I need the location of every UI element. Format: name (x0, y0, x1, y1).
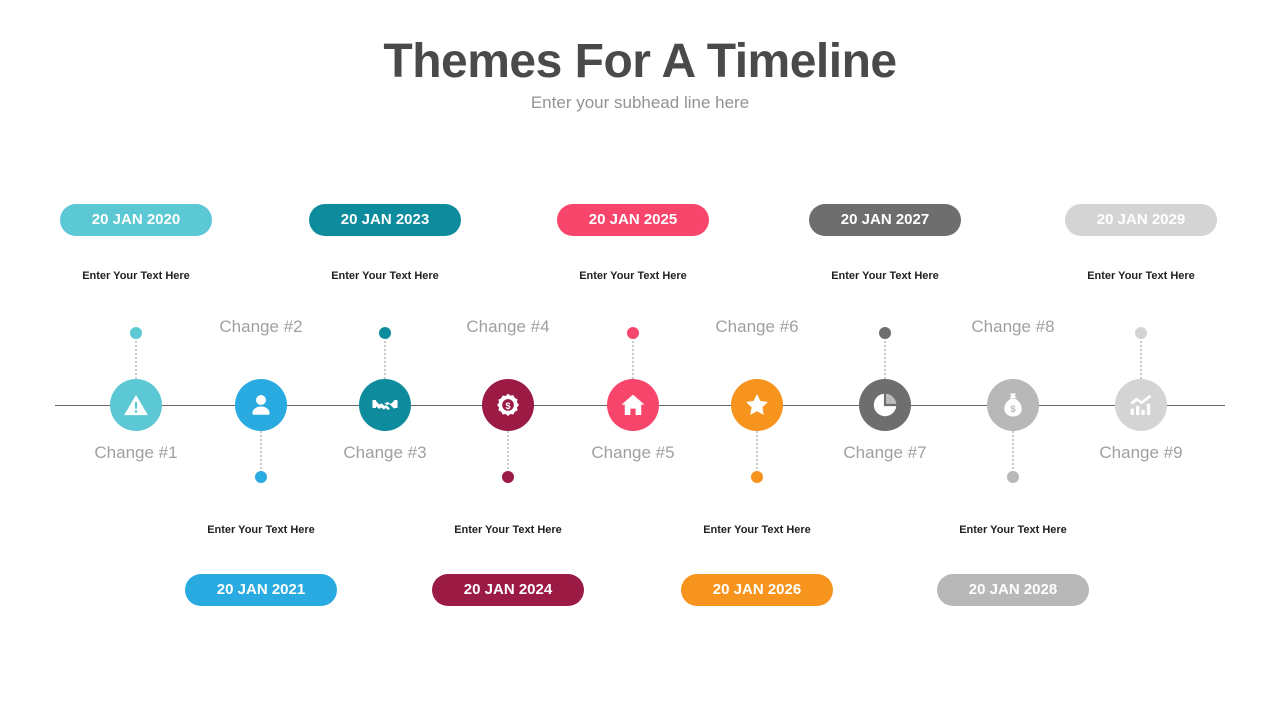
handshake-icon (372, 392, 398, 418)
dotted-line (1140, 333, 1144, 379)
node-circle-6[interactable] (731, 379, 783, 431)
node-circle-3[interactable] (359, 379, 411, 431)
connector-dot (255, 471, 267, 483)
node-circle-2[interactable] (235, 379, 287, 431)
connector-dot (1135, 327, 1147, 339)
milestone-text: Enter Your Text Here (398, 524, 618, 536)
gear-dollar-icon: $ (495, 392, 521, 418)
node-circle-1[interactable] (110, 379, 162, 431)
page-subtitle: Enter your subhead line here (0, 93, 1280, 113)
node-circle-4[interactable]: $ (482, 379, 534, 431)
milestone-text: Enter Your Text Here (903, 524, 1123, 536)
svg-text:$: $ (1010, 404, 1016, 414)
node-circle-9[interactable] (1115, 379, 1167, 431)
date-badge[interactable]: 20 JAN 2020 (60, 204, 212, 236)
bar-chart-icon (1128, 392, 1154, 418)
node-label-8: Change #8 (923, 317, 1103, 337)
node-circle-7[interactable] (859, 379, 911, 431)
milestone-text: Enter Your Text Here (26, 270, 246, 282)
date-badge[interactable]: 20 JAN 2028 (937, 574, 1089, 606)
connector-dot (130, 327, 142, 339)
date-badge[interactable]: 20 JAN 2023 (309, 204, 461, 236)
node-label-5: Change #5 (543, 443, 723, 463)
milestone-text: Enter Your Text Here (1031, 270, 1251, 282)
svg-text:$: $ (505, 401, 510, 411)
connector-dot (751, 471, 763, 483)
dotted-line (384, 333, 388, 379)
warning-icon (123, 392, 149, 418)
connector-dot (1007, 471, 1019, 483)
connector-dot (627, 327, 639, 339)
slide-canvas: Themes For A Timeline Enter your subhead… (0, 0, 1280, 720)
connector-dot (379, 327, 391, 339)
node-label-4: Change #4 (418, 317, 598, 337)
milestone-text: Enter Your Text Here (775, 270, 995, 282)
date-badge[interactable]: 20 JAN 2026 (681, 574, 833, 606)
node-label-9: Change #9 (1051, 443, 1231, 463)
connector-dot (879, 327, 891, 339)
page-title: Themes For A Timeline (0, 36, 1280, 89)
date-badge[interactable]: 20 JAN 2027 (809, 204, 961, 236)
milestone-text: Enter Your Text Here (275, 270, 495, 282)
node-circle-5[interactable] (607, 379, 659, 431)
home-icon (620, 392, 646, 418)
node-label-6: Change #6 (667, 317, 847, 337)
node-label-7: Change #7 (795, 443, 975, 463)
star-icon (744, 392, 770, 418)
node-label-3: Change #3 (295, 443, 475, 463)
node-circle-8[interactable]: $ (987, 379, 1039, 431)
milestone-text: Enter Your Text Here (151, 524, 371, 536)
dotted-line (135, 333, 139, 379)
connector-dot (502, 471, 514, 483)
date-badge[interactable]: 20 JAN 2024 (432, 574, 584, 606)
date-badge[interactable]: 20 JAN 2029 (1065, 204, 1217, 236)
date-badge[interactable]: 20 JAN 2025 (557, 204, 709, 236)
money-bag-icon: $ (1000, 392, 1026, 418)
node-label-2: Change #2 (171, 317, 351, 337)
dotted-line (632, 333, 636, 379)
user-icon (248, 392, 274, 418)
milestone-text: Enter Your Text Here (523, 270, 743, 282)
pie-chart-icon (872, 392, 898, 418)
node-label-1: Change #1 (46, 443, 226, 463)
dotted-line (884, 333, 888, 379)
date-badge[interactable]: 20 JAN 2021 (185, 574, 337, 606)
milestone-text: Enter Your Text Here (647, 524, 867, 536)
